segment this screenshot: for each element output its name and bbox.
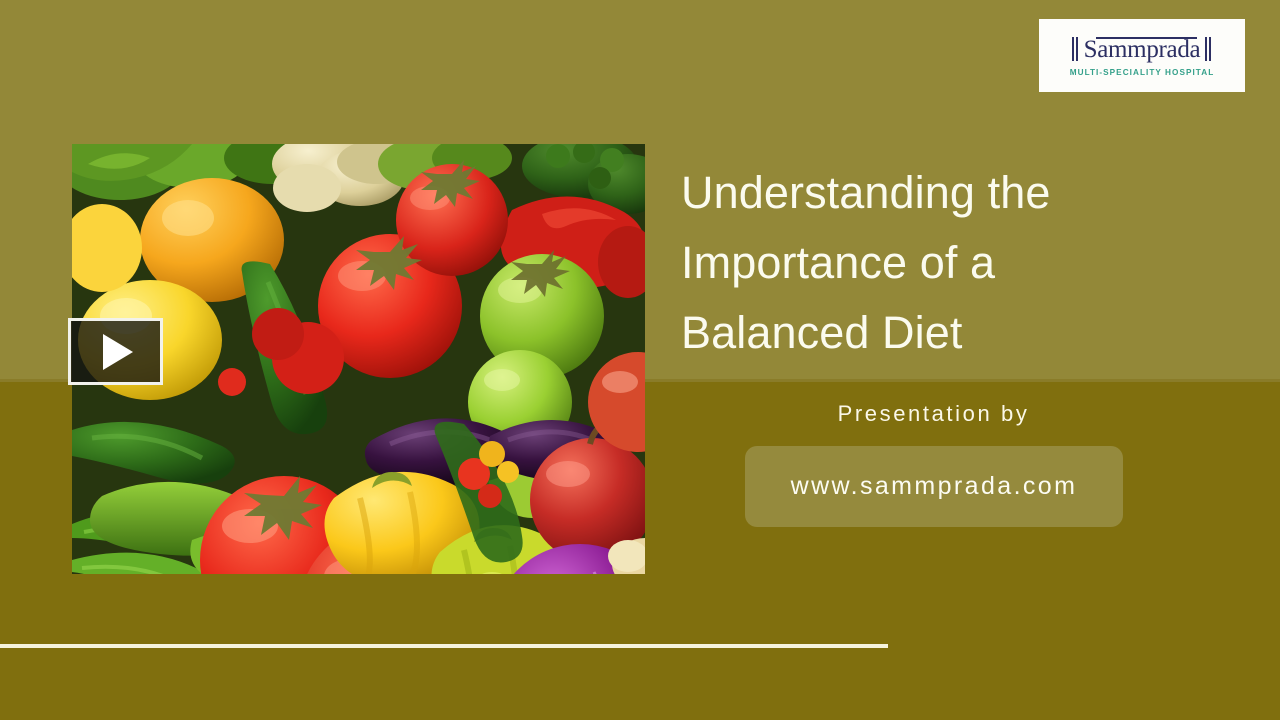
- bottom-accent-line: [0, 644, 888, 648]
- double-vertical-bar-icon-left: [1072, 36, 1079, 62]
- slide-title: Understanding the Importance of a Balanc…: [681, 158, 1151, 368]
- website-url: www.sammprada.com: [791, 472, 1078, 501]
- play-triangle-icon: [103, 334, 133, 370]
- hospital-logo: Sammprada MULTI-SPECIALITY HOSPITAL: [1039, 19, 1245, 92]
- logo-wordmark-text: Sammprada: [1084, 35, 1201, 63]
- slide-title-line-3: Balanced Diet: [681, 298, 1151, 368]
- presentation-by-label: Presentation by: [681, 401, 1186, 427]
- website-box[interactable]: www.sammprada.com: [745, 446, 1123, 527]
- slide-title-line-1: Understanding the: [681, 158, 1151, 228]
- presentation-slide: Sammprada MULTI-SPECIALITY HOSPITAL: [0, 0, 1280, 720]
- logo-tagline: MULTI-SPECIALITY HOSPITAL: [1070, 68, 1215, 77]
- slide-title-line-2: Importance of a: [681, 228, 1151, 298]
- double-vertical-bar-icon-right: [1205, 36, 1212, 62]
- logo-wordmark-row: Sammprada: [1072, 34, 1213, 64]
- video-play-button[interactable]: [68, 318, 163, 385]
